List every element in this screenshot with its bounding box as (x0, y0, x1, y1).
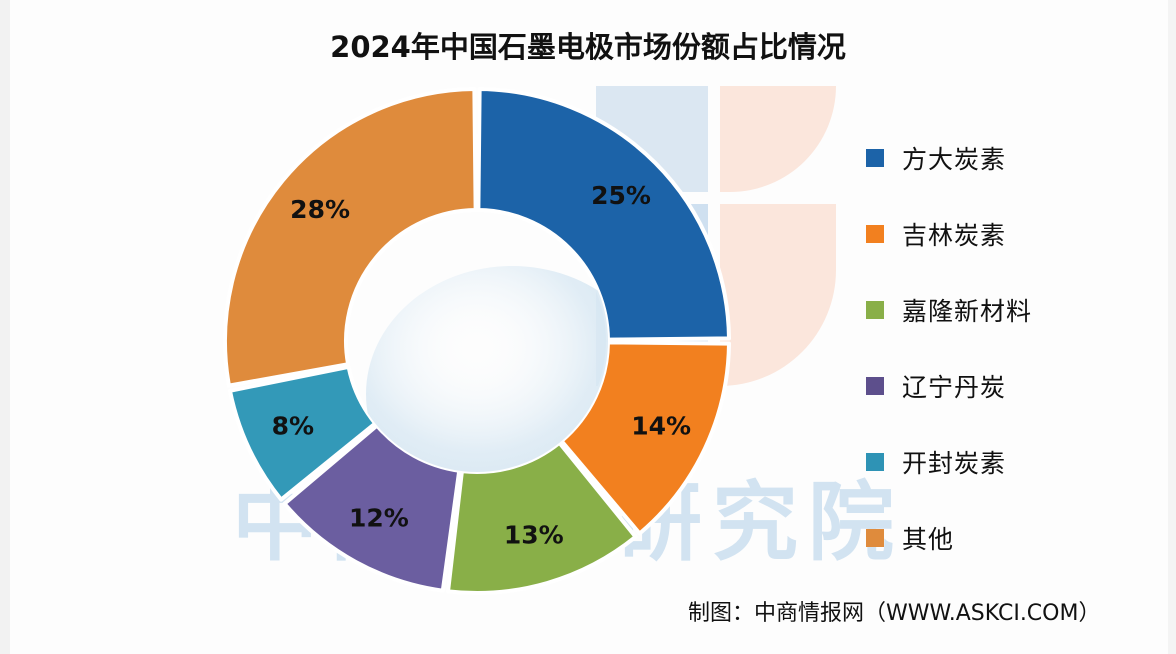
donut-slices (225, 89, 729, 593)
legend-label: 其他 (902, 520, 954, 556)
legend-item[interactable]: 辽宁丹炭 (866, 348, 1126, 424)
legend-swatch-qita (866, 529, 884, 547)
legend-label: 吉林炭素 (902, 216, 1006, 252)
donut-slice[interactable] (478, 89, 729, 340)
legend-item[interactable]: 方大炭素 (866, 120, 1126, 196)
legend-label: 开封炭素 (902, 444, 1006, 480)
legend-item[interactable]: 开封炭素 (866, 424, 1126, 500)
legend-item[interactable]: 吉林炭素 (866, 196, 1126, 272)
legend-item[interactable]: 其他 (866, 500, 1126, 576)
legend-item[interactable]: 嘉隆新材料 (866, 272, 1126, 348)
chart-page: 中商产业研究院 2024年中国石墨电极市场份额占比情况 25%14%13%12%… (0, 0, 1176, 654)
slice-value-label: 25% (591, 181, 651, 210)
legend-swatch-kaifeng-tansu (866, 453, 884, 471)
legend-label: 方大炭素 (902, 140, 1006, 176)
legend-swatch-fangda-tansu (866, 149, 884, 167)
legend-swatch-jialong-xincailiao (866, 301, 884, 319)
legend-label: 嘉隆新材料 (902, 292, 1032, 328)
donut-slice[interactable] (225, 89, 476, 386)
source-credit: 制图：中商情报网（WWW.ASKCI.COM） (688, 595, 1100, 627)
legend-label: 辽宁丹炭 (902, 368, 1006, 404)
chart-legend: 方大炭素 吉林炭素 嘉隆新材料 辽宁丹炭 开封炭素 其他 (866, 120, 1126, 576)
legend-swatch-liaoning-dantan (866, 377, 884, 395)
slice-value-label: 28% (290, 195, 350, 224)
slice-value-label: 8% (272, 412, 314, 441)
donut-chart: 25%14%13%12%8%28% (212, 76, 742, 606)
slice-value-label: 14% (631, 412, 691, 441)
legend-swatch-jilin-tansu (866, 225, 884, 243)
page-title: 2024年中国石墨电极市场份额占比情况 (0, 24, 1176, 66)
donut-chart-svg: 25%14%13%12%8%28% (212, 76, 742, 606)
slice-value-label: 13% (504, 521, 564, 550)
slice-value-label: 12% (349, 503, 409, 532)
